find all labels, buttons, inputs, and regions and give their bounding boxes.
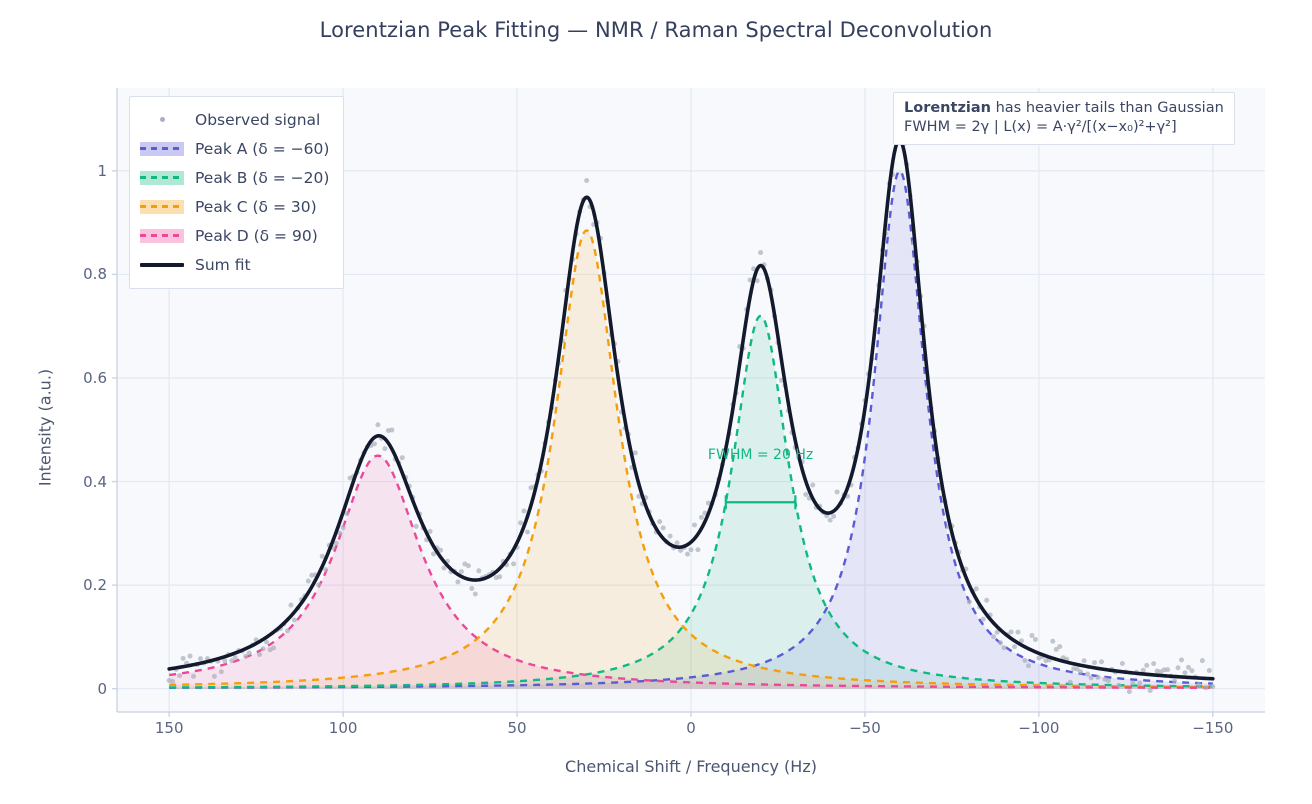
observed-point [1057,644,1062,649]
chart-legend[interactable]: Observed signalPeak A (δ = −60)Peak B (δ… [129,96,344,289]
observed-point [689,547,694,552]
legend-swatch-peak_d [140,228,184,244]
x-tick-label: 100 [329,719,358,737]
observed-point [525,530,530,535]
observed-point [320,554,325,559]
observed-point [518,520,523,525]
observed-point [181,656,186,661]
legend-item-peak_c[interactable]: Peak C (δ = 30) [140,192,329,221]
observed-point [1189,668,1194,673]
observed-point [1144,663,1149,668]
observed-point [1200,658,1205,663]
observed-point [1176,665,1181,670]
observed-point [1022,658,1027,663]
observed-point [803,492,808,497]
observed-point [1182,670,1187,675]
legend-dot-icon [160,117,165,122]
observed-point [306,579,311,584]
observed-point [685,552,690,557]
observed-point [984,598,989,603]
observed-point [1179,657,1184,662]
observed-point [1092,660,1097,665]
legend-item-peak_d[interactable]: Peak D (δ = 90) [140,221,329,250]
observed-point [466,563,471,568]
info-box: Lorentzian has heavier tails than Gaussi… [893,92,1235,145]
observed-point [1210,684,1215,689]
observed-point [1096,675,1101,680]
observed-point [292,618,297,623]
observed-point [191,674,196,679]
observed-point [828,518,833,523]
observed-point [974,586,979,591]
observed-point [668,534,673,539]
observed-point [459,569,464,574]
legend-item-peak_a[interactable]: Peak A (δ = −60) [140,134,329,163]
observed-point [261,646,266,651]
legend-label: Peak C (δ = 30) [195,198,317,216]
y-tick-label: 0.4 [47,473,107,491]
legend-dashed-line-icon [140,147,184,150]
observed-point [699,515,704,520]
x-tick-label: −100 [1018,719,1059,737]
observed-point [1050,639,1055,644]
fwhm-annotation-label: FWHM = 20 Hz [708,447,813,463]
observed-point [1089,675,1094,680]
legend-swatch-peak_a [140,141,184,157]
y-axis-title: Intensity (a.u.) [36,278,55,578]
observed-point [170,679,175,684]
observed-point [657,519,662,524]
observed-point [323,567,328,572]
observed-point [695,547,700,552]
info-box-term: Lorentzian [904,100,991,116]
observed-point [473,591,478,596]
observed-point [375,422,380,427]
observed-point [212,674,217,679]
observed-point [1012,644,1017,649]
legend-item-observed[interactable]: Observed signal [140,105,329,134]
info-box-line-1: Lorentzian has heavier tails than Gaussi… [904,99,1224,118]
observed-point [177,673,182,678]
legend-label: Peak A (δ = −60) [195,140,329,158]
observed-point [198,656,203,661]
observed-point [584,178,589,183]
info-box-description: has heavier tails than Gaussian [991,100,1224,116]
observed-point [675,540,680,545]
observed-point [1137,681,1142,686]
x-tick-label: −150 [1192,719,1233,737]
observed-point [1141,668,1146,673]
observed-point [1120,661,1125,666]
observed-point [247,650,252,655]
x-tick-label: 0 [686,719,696,737]
legend-item-peak_b[interactable]: Peak B (δ = −20) [140,163,329,192]
observed-point [288,603,293,608]
observed-point [1203,685,1208,690]
observed-point [372,441,377,446]
observed-point [400,455,405,460]
legend-label: Peak B (δ = −20) [195,169,329,187]
x-axis-title: Chemical Shift / Frequency (Hz) [117,757,1265,776]
y-tick-label: 0 [47,680,107,698]
legend-dashed-line-icon [140,205,184,208]
observed-point [991,634,996,639]
legend-solid-line-icon [140,263,184,267]
legend-label: Peak D (δ = 90) [195,227,318,245]
observed-point [998,640,1003,645]
observed-point [219,669,224,674]
legend-dashed-line-icon [140,234,184,237]
y-tick-label: 1 [47,162,107,180]
observed-point [1029,633,1034,638]
observed-point [257,652,262,657]
chart-figure: Lorentzian Peak Fitting — NMR / Raman Sp… [0,0,1312,800]
y-tick-label: 0.6 [47,369,107,387]
chart-title: Lorentzian Peak Fitting — NMR / Raman Sp… [0,18,1312,42]
observed-point [1196,682,1201,687]
observed-point [1130,680,1135,685]
observed-point [1085,672,1090,677]
observed-point [831,514,836,519]
x-tick-label: 150 [155,719,184,737]
observed-point [1106,678,1111,683]
legend-swatch-peak_c [140,199,184,215]
observed-point [1068,680,1073,685]
observed-point [1016,630,1021,635]
observed-point [967,599,972,604]
info-box-formula: FWHM = 2γ | L(x) = A·γ²/[(x−x₀)²+γ²] [904,118,1224,137]
legend-dashed-line-icon [140,176,184,179]
observed-point [1172,678,1177,683]
observed-point [1002,645,1007,650]
observed-point [389,428,394,433]
legend-item-sum_fit[interactable]: Sum fit [140,250,329,279]
observed-point [1009,629,1014,634]
observed-point [222,658,227,663]
observed-point [497,574,502,579]
observed-point [1127,689,1132,694]
observed-point [341,525,346,530]
observed-point [476,568,481,573]
legend-swatch-observed [140,112,184,128]
legend-label: Observed signal [195,111,320,129]
observed-point [1078,669,1083,674]
observed-point [188,654,193,659]
legend-swatch-sum_fit [140,257,184,273]
observed-point [271,646,276,651]
y-tick-label: 0.2 [47,576,107,594]
observed-point [1099,659,1104,664]
observed-point [661,525,666,530]
observed-point [633,450,638,455]
observed-point [1148,688,1153,693]
observed-point [1082,658,1087,663]
observed-point [316,582,321,587]
observed-point [981,617,986,622]
observed-point [692,522,697,527]
y-tick-label: 0.8 [47,265,107,283]
observed-point [455,579,460,584]
observed-point [382,446,387,451]
observed-point [233,655,238,660]
observed-point [1207,668,1212,673]
observed-point [1033,637,1038,642]
observed-point [1165,667,1170,672]
legend-swatch-peak_b [140,170,184,186]
x-tick-label: 50 [508,719,527,737]
observed-point [1151,661,1156,666]
observed-point [511,561,516,566]
observed-point [1026,663,1031,668]
observed-point [810,483,815,488]
observed-point [835,489,840,494]
observed-point [285,628,290,633]
observed-point [522,508,527,513]
observed-point [469,586,474,591]
observed-point [758,250,763,255]
observed-point [1116,683,1121,688]
legend-label: Sum fit [195,256,251,274]
x-tick-label: −50 [849,719,881,737]
observed-point [414,524,419,529]
